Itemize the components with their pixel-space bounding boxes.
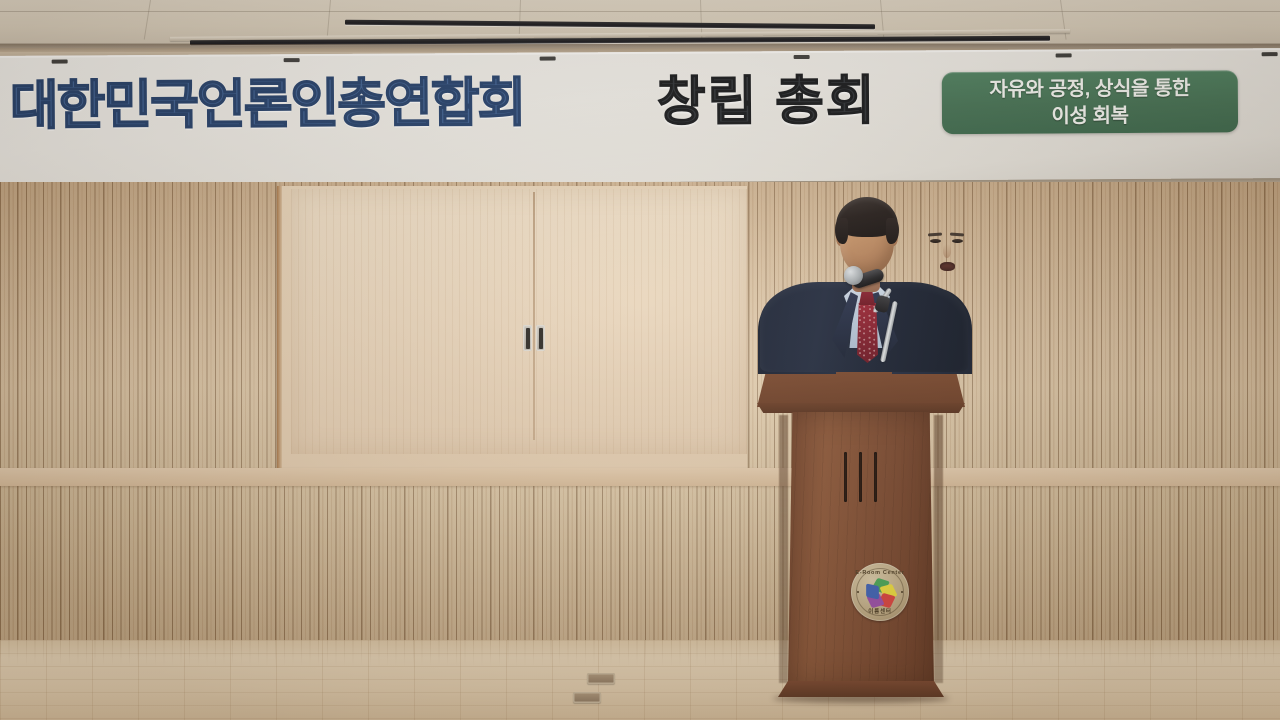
- slogan-line-2: 이성 회복: [1051, 103, 1128, 130]
- door-handle-right-icon[interactable]: [536, 325, 545, 351]
- podium: E-Room Center 이룸센터: [757, 349, 965, 720]
- emblem-text-top: E-Room Center: [851, 570, 909, 576]
- mouth: [940, 262, 955, 271]
- nose: [943, 244, 951, 258]
- pinwheel-star-icon: [865, 579, 895, 607]
- floor-outlet-icon: [587, 673, 615, 684]
- door-panel-frame: [277, 186, 747, 468]
- banner-event-title: 창립 총회: [657, 73, 877, 132]
- door-handle-pair[interactable]: [523, 325, 545, 351]
- double-door[interactable]: [291, 189, 747, 454]
- banner-slogan-box: 자유와 공정, 상식을 통한 이성 회복: [942, 70, 1238, 134]
- microphone-head-icon: [844, 266, 863, 285]
- emblem-text-bottom: 이룸센터: [851, 607, 909, 615]
- podium-front-face: E-Room Center 이룸센터: [788, 412, 934, 685]
- ceiling-light-slot: [345, 20, 875, 30]
- event-photo-scene: 대한민국언론인총연합회 창립 총회 자유와 공정, 상식을 통한 이성 회복 일…: [0, 0, 1280, 720]
- floor-outlet-icon: [573, 692, 601, 703]
- eye-left: [930, 239, 941, 243]
- eroom-center-emblem: E-Room Center 이룸센터: [851, 563, 909, 621]
- door-handle-left-icon[interactable]: [523, 325, 532, 351]
- ceiling: [0, 0, 1280, 48]
- wall-base-band: [0, 468, 1280, 486]
- stage-floor: [0, 640, 1280, 720]
- eye-right: [952, 239, 963, 243]
- event-banner: 대한민국언론인총연합회 창립 총회 자유와 공정, 상식을 통한 이성 회복 일…: [0, 48, 1280, 186]
- banner-organization-title: 대한민국언론인총연합회: [10, 74, 650, 136]
- slogan-line-1: 자유와 공정, 상식을 통한: [989, 75, 1190, 103]
- podium-base: [778, 681, 944, 697]
